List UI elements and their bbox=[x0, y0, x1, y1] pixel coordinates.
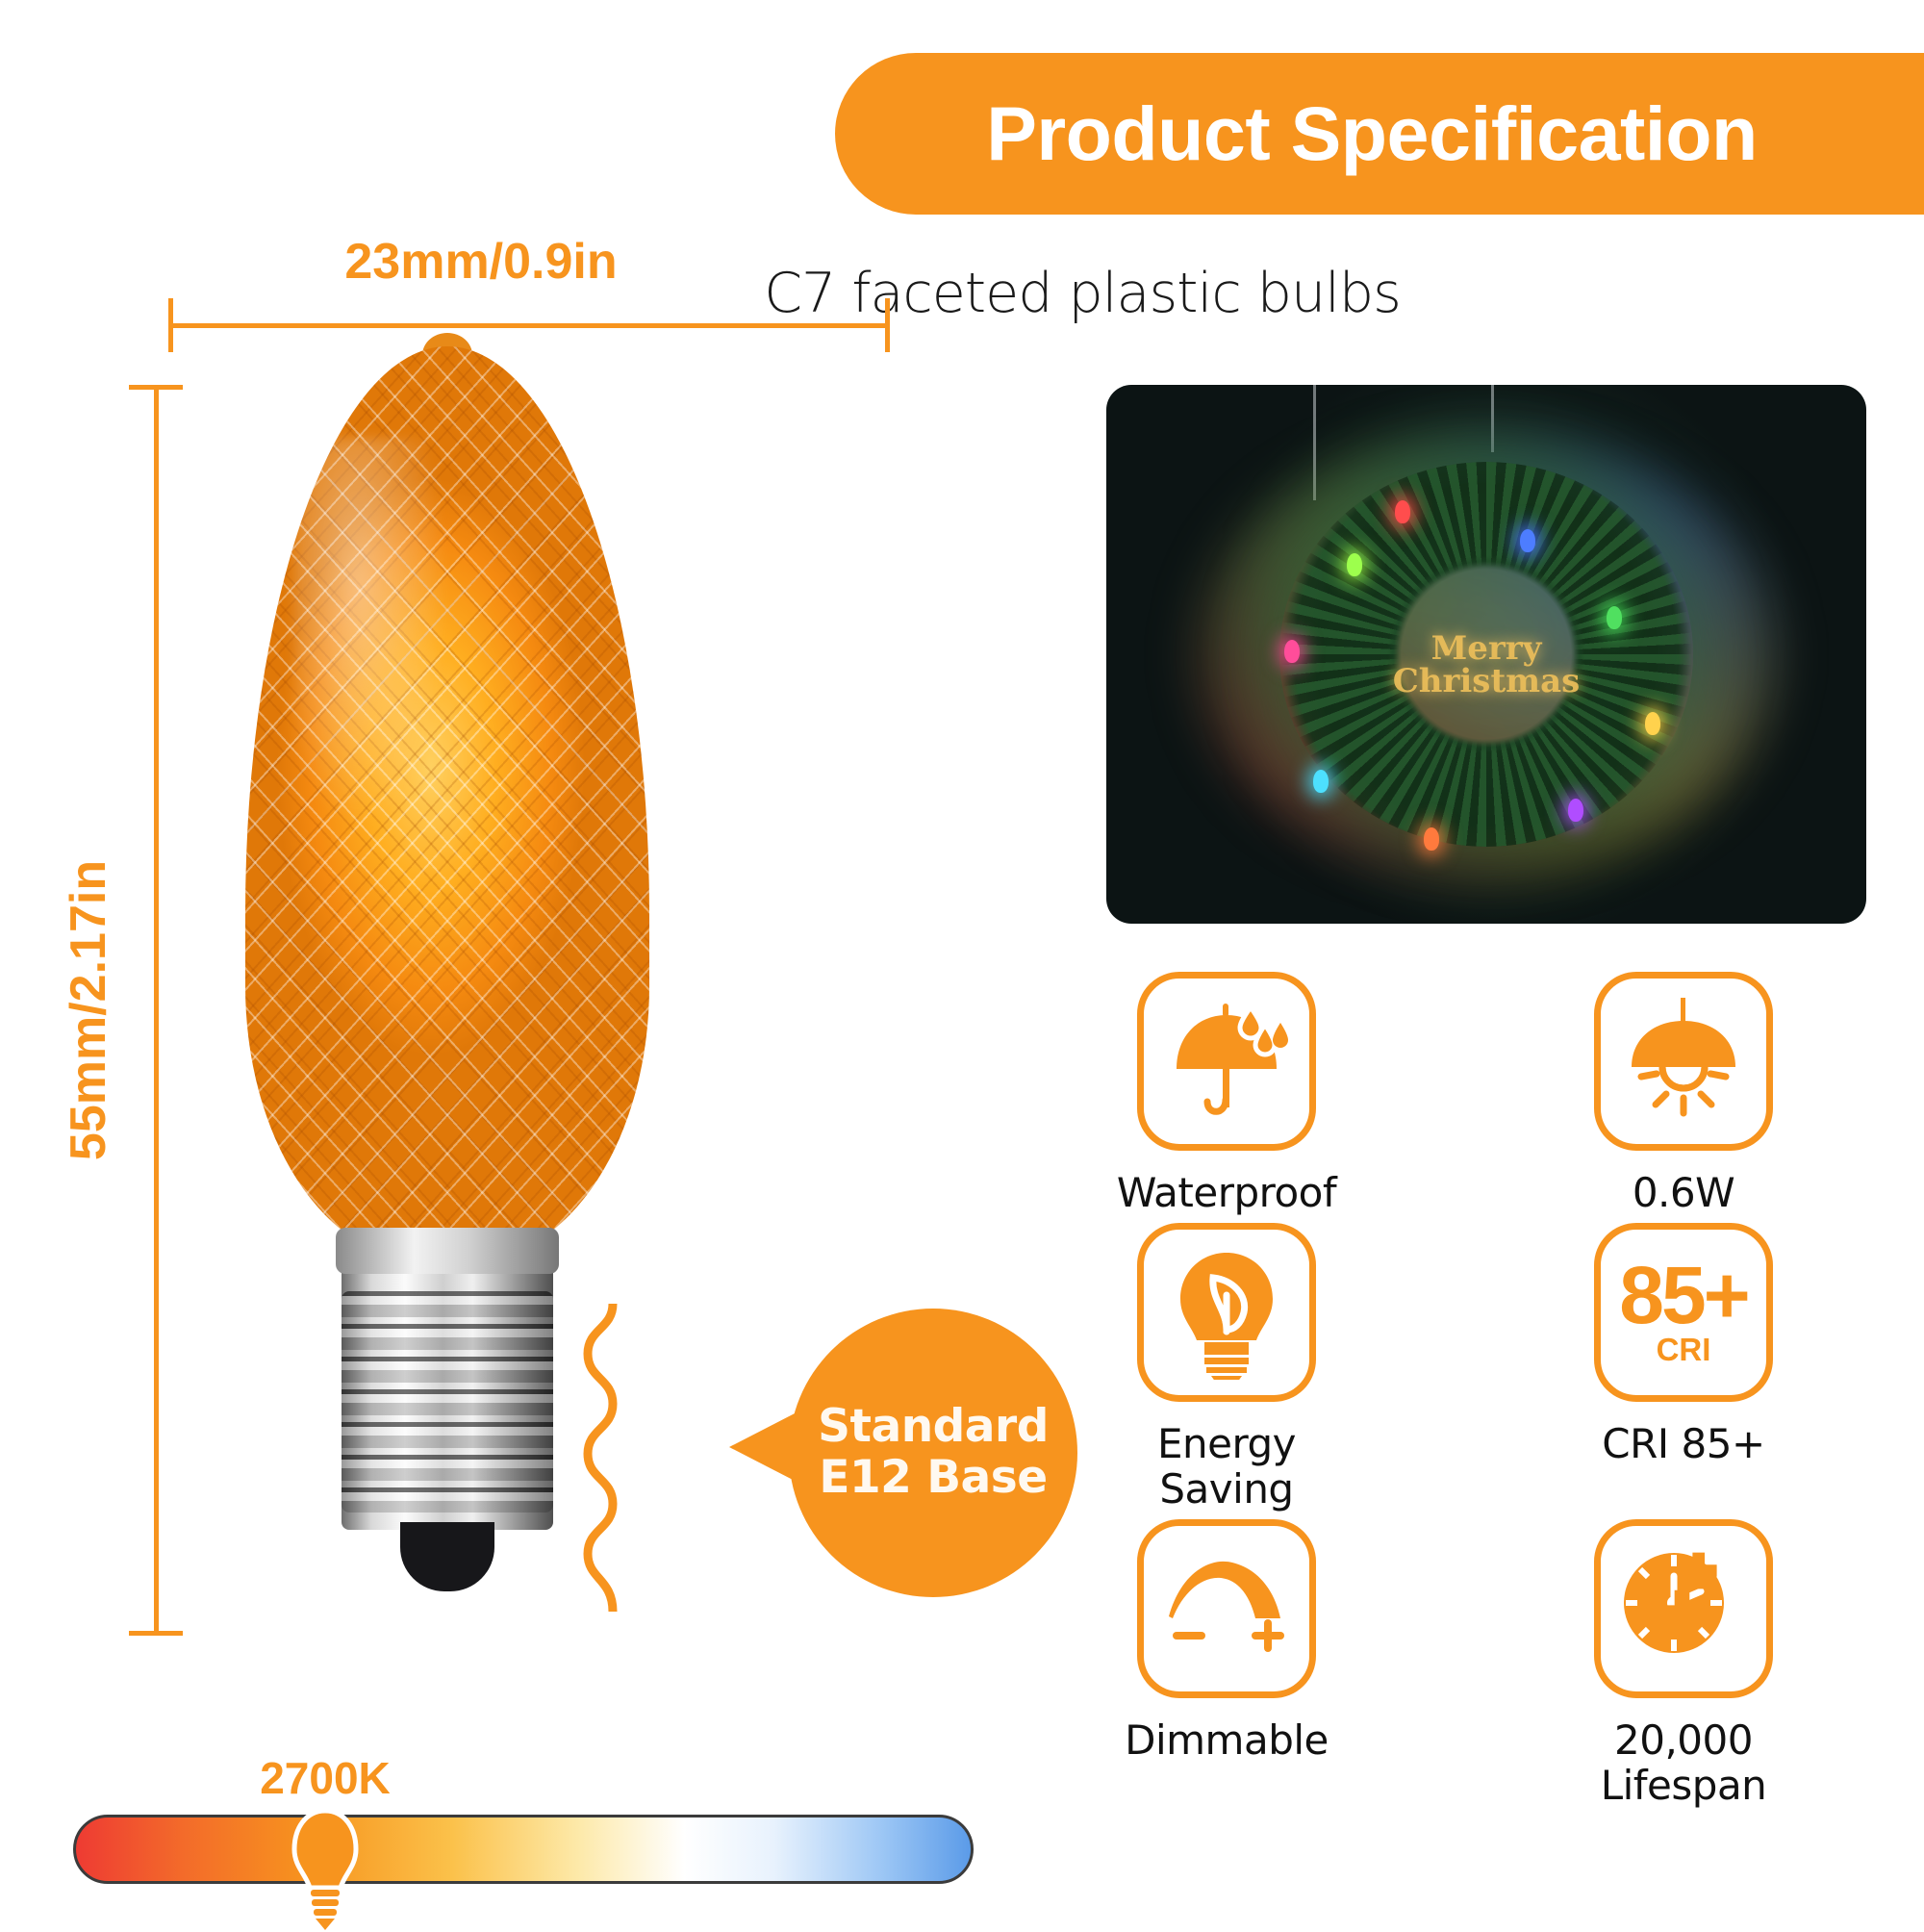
product-subtitle: C7 faceted plastic bulbs bbox=[764, 262, 1401, 325]
feature-energy-saving: Energy Saving bbox=[1106, 1223, 1347, 1512]
string-light-cyan bbox=[1313, 770, 1329, 793]
feature-dimmable: Dimmable bbox=[1106, 1519, 1347, 1808]
string-light-orange bbox=[1424, 827, 1439, 851]
cri-badge-icon: 85+ CRI bbox=[1619, 1259, 1748, 1366]
wreath-overlay-text: Merry Christmas bbox=[1393, 632, 1581, 698]
bulb-dimension-panel: 23mm/0.9in 55mm/2.17in Standard E12 Base bbox=[0, 0, 847, 1924]
string-light-yellow bbox=[1645, 712, 1660, 735]
bulb-e12-screw-base bbox=[342, 1241, 553, 1530]
product-specification-infographic: Product Specification C7 faceted plastic… bbox=[0, 0, 1924, 1924]
feature-cri: 85+ CRI CRI 85+ bbox=[1563, 1223, 1804, 1512]
string-light-red bbox=[1395, 500, 1410, 523]
header-banner: Product Specification bbox=[835, 53, 1924, 215]
color-temperature-bulb-marker-icon bbox=[285, 1807, 366, 1932]
clock-plus-icon bbox=[1616, 1541, 1751, 1676]
wreath-product-photo: Merry Christmas bbox=[1106, 385, 1866, 924]
feature-icon-box bbox=[1137, 972, 1316, 1151]
bulb-base-collar bbox=[336, 1228, 559, 1274]
height-dimension-cap-bottom bbox=[129, 1631, 183, 1636]
feature-wattage: 0.6W bbox=[1563, 972, 1804, 1215]
string-light-green bbox=[1607, 606, 1622, 629]
feature-label: Waterproof bbox=[1117, 1170, 1336, 1215]
feature-icon-box bbox=[1137, 1223, 1316, 1402]
height-dimension-cap-top bbox=[129, 385, 183, 390]
feature-label: 20,000 Lifespan bbox=[1601, 1717, 1767, 1808]
bulb-base-threads bbox=[342, 1291, 553, 1513]
dimmer-arc-icon bbox=[1159, 1541, 1294, 1676]
feature-icon-box bbox=[1594, 1519, 1773, 1698]
feature-label: CRI 85+ bbox=[1602, 1421, 1764, 1466]
width-dimension-cap-right bbox=[885, 298, 890, 352]
cri-badge-value: 85+ bbox=[1619, 1259, 1748, 1333]
feature-label: Dimmable bbox=[1125, 1717, 1329, 1763]
feature-icon-box: 85+ CRI bbox=[1594, 1223, 1773, 1402]
callout-line-2: E12 Base bbox=[819, 1453, 1047, 1504]
string-light-blue bbox=[1520, 529, 1535, 552]
feature-label: Energy Saving bbox=[1106, 1421, 1347, 1512]
page-title: Product Specification bbox=[986, 89, 1773, 178]
bulb-base-contact bbox=[400, 1522, 494, 1591]
feature-lifespan: 20,000 Lifespan bbox=[1563, 1519, 1804, 1808]
bulb-leaf-icon bbox=[1159, 1245, 1294, 1380]
base-bracket-squiggle-icon bbox=[572, 1304, 659, 1612]
color-temperature-bar bbox=[73, 1815, 974, 1884]
width-dimension-label: 23mm/0.9in bbox=[344, 233, 617, 291]
string-light-pink bbox=[1284, 640, 1300, 663]
width-dimension-line bbox=[168, 323, 890, 328]
cri-badge-sub: CRI bbox=[1657, 1334, 1711, 1365]
e12-base-callout: Standard E12 Base bbox=[789, 1309, 1077, 1597]
bulb-faceted-glass bbox=[245, 346, 649, 1260]
umbrella-rain-icon bbox=[1159, 994, 1294, 1129]
feature-icon-box bbox=[1137, 1519, 1316, 1698]
pendant-lamp-icon bbox=[1616, 994, 1751, 1129]
height-dimension-line bbox=[154, 385, 159, 1636]
feature-grid: Waterproof 0.6W bbox=[1106, 972, 1876, 1808]
string-light-lime bbox=[1347, 553, 1362, 576]
wreath-overlay-line-2: Christmas bbox=[1393, 662, 1581, 700]
feature-icon-box bbox=[1594, 972, 1773, 1151]
feature-label: 0.6W bbox=[1633, 1170, 1734, 1215]
callout-line-1: Standard bbox=[818, 1402, 1049, 1453]
color-temperature-label: 2700K bbox=[260, 1752, 391, 1804]
height-dimension-label: 55mm/2.17in bbox=[60, 860, 117, 1160]
feature-waterproof: Waterproof bbox=[1106, 972, 1347, 1215]
width-dimension-cap-left bbox=[168, 298, 173, 352]
callout-pointer bbox=[729, 1412, 797, 1482]
string-light-purple bbox=[1568, 799, 1583, 822]
